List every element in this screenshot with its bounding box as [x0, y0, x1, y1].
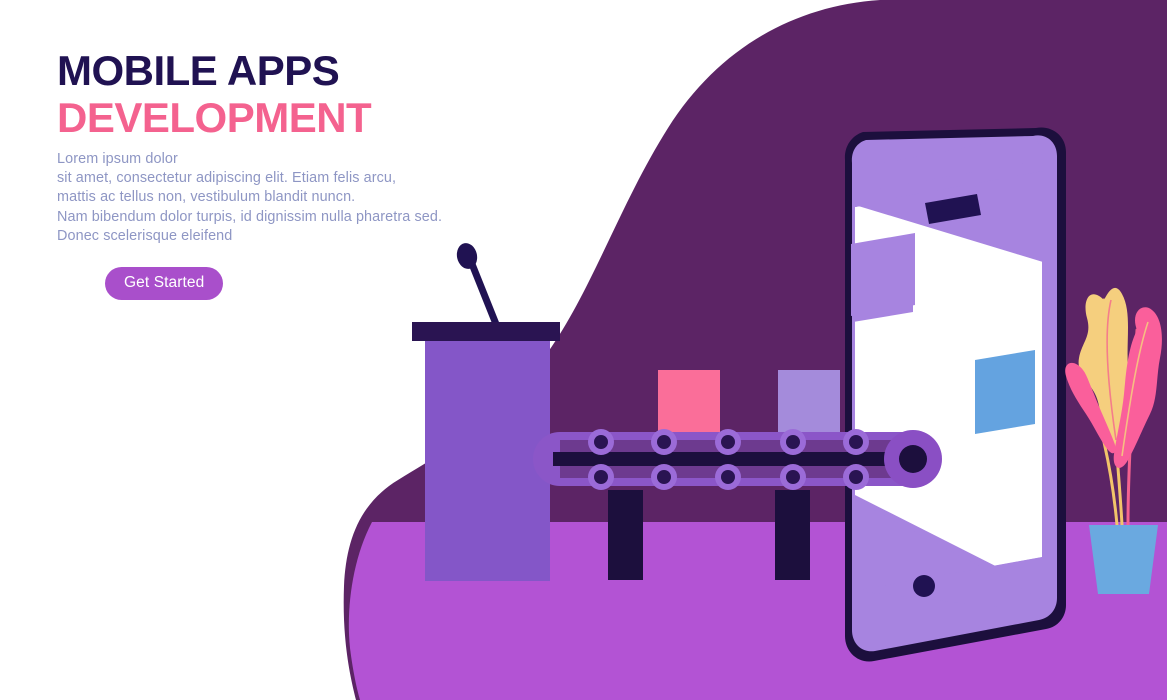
phone-home-button — [913, 575, 935, 597]
podium-body — [425, 341, 550, 581]
roller-hub — [849, 435, 863, 449]
roller-hub — [657, 435, 671, 449]
phone-screen-tile-blue — [975, 350, 1035, 434]
conveyor-leg-right — [775, 490, 810, 580]
plant-pot — [1089, 525, 1158, 594]
conveyor-box-pink — [658, 370, 720, 433]
conveyor-pulley-hub — [899, 445, 927, 473]
roller-hub — [849, 470, 863, 484]
roller-hub — [594, 435, 608, 449]
roller-hub — [721, 435, 735, 449]
conveyor-box-purple — [778, 370, 840, 433]
roller-hub — [657, 470, 671, 484]
podium-top-slab — [412, 322, 560, 341]
hero-copy-block: MOBILE APPS DEVELOPMENT Lorem ipsum dolo… — [57, 50, 527, 300]
illustration-canvas: MOBILE APPS DEVELOPMENT Lorem ipsum dolo… — [0, 0, 1167, 700]
phone-screen-tile-purple-skew — [851, 233, 915, 316]
page-title-line2: DEVELOPMENT — [57, 97, 527, 140]
page-title-line1: MOBILE APPS — [57, 50, 527, 93]
hero-body-text: Lorem ipsum dolor sit amet, consectetur … — [57, 150, 527, 246]
get-started-button[interactable]: Get Started — [105, 267, 223, 300]
conveyor-leg-left — [608, 490, 643, 580]
roller-hub — [721, 470, 735, 484]
roller-hub — [594, 470, 608, 484]
roller-hub — [786, 470, 800, 484]
smartphone — [845, 128, 1066, 662]
roller-hub — [786, 435, 800, 449]
conveyor-belt — [533, 429, 942, 490]
